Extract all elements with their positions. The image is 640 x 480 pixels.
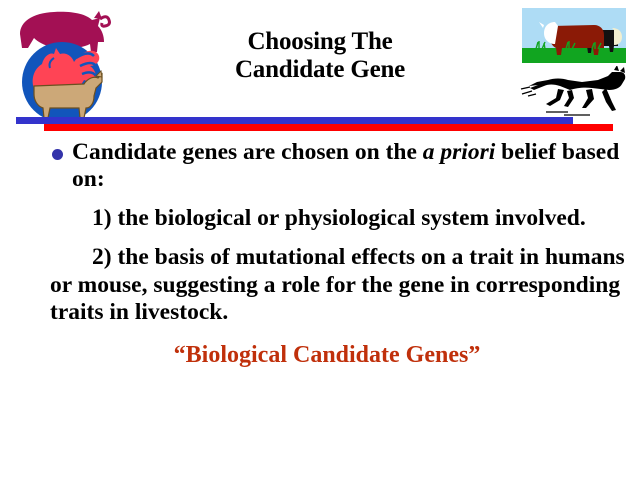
closing-quote: “Biological Candidate Genes”	[50, 341, 626, 369]
spacer-1	[50, 194, 626, 205]
title-line-1: Choosing The	[140, 28, 500, 56]
bullet-text-italic: a priori	[423, 139, 495, 165]
bullet-main-text: Candidate genes are chosen on the a prio…	[72, 139, 626, 194]
numbered-point-2: 2) the basis of mutational effects on a …	[50, 244, 626, 326]
bullet-dot-icon	[52, 149, 63, 160]
galloping-horse-silhouette	[520, 66, 630, 120]
bullet-text-before: Candidate genes are chosen on the	[72, 139, 423, 165]
title-line-2: Candidate Gene	[140, 56, 500, 84]
numbered-point-1: 1) the biological or physiological syste…	[50, 205, 626, 232]
cattle-in-pasture-photo	[522, 8, 626, 63]
spacer-2	[50, 232, 626, 244]
divider-bar-red	[44, 124, 613, 131]
divider-bar-blue	[16, 117, 573, 124]
page-title: Choosing The Candidate Gene	[140, 28, 500, 84]
slide-canvas: Choosing The Candidate Gene Candidate ge…	[0, 0, 640, 480]
bullet-item-main: Candidate genes are chosen on the a prio…	[50, 139, 626, 194]
livestock-logo	[10, 4, 114, 126]
slide-body: Candidate genes are chosen on the a prio…	[50, 139, 626, 393]
